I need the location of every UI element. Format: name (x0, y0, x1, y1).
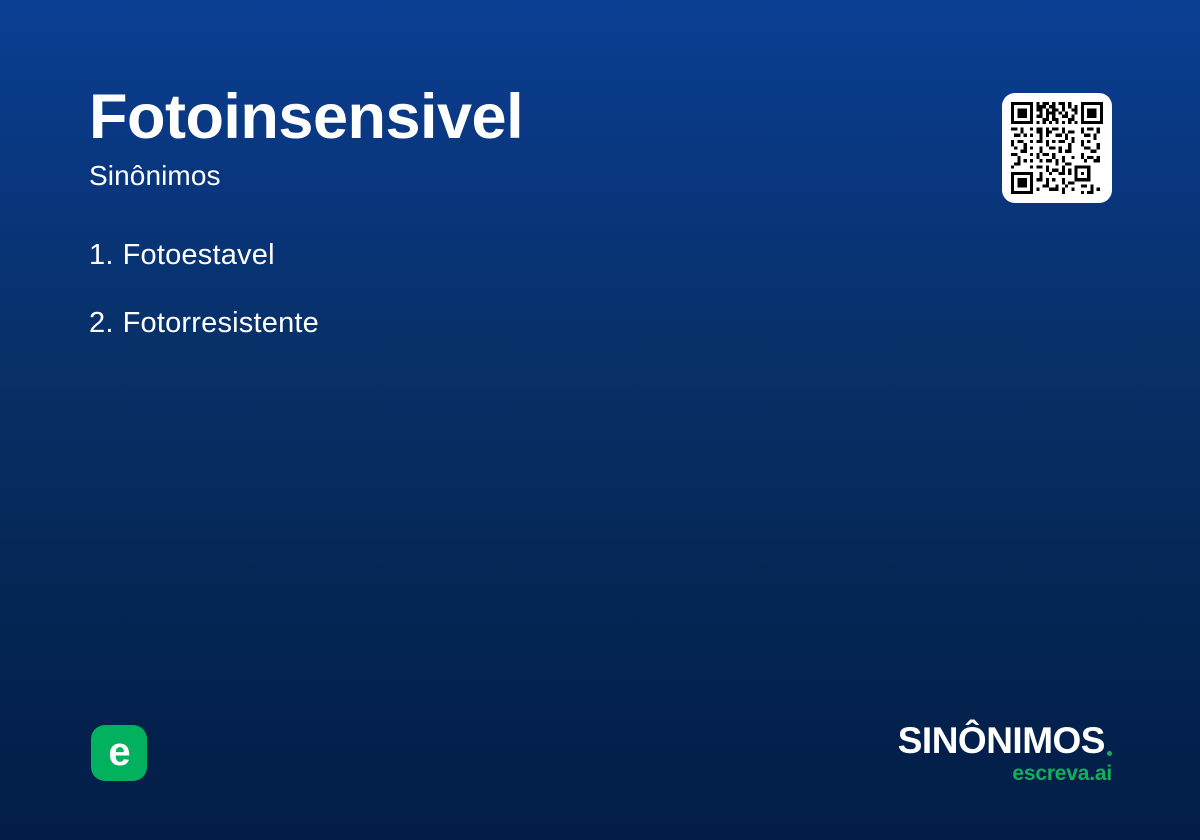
brand-logo: SINÔNIMOS escreva.ai (898, 722, 1112, 784)
list-item-label: Fotoestavel (123, 238, 275, 273)
brand-name: SINÔNIMOS (898, 722, 1105, 759)
brand-subtitle: escreva.ai (898, 763, 1112, 784)
list-item-index: 1. (89, 238, 114, 273)
list-item-label: Fotorresistente (123, 306, 319, 341)
list-item: 1. Fotoestavel (89, 238, 969, 273)
qr-code-card[interactable] (1002, 93, 1112, 203)
brand-name-row: SINÔNIMOS (898, 722, 1112, 759)
brand-dot-icon (1107, 751, 1112, 756)
app-badge-letter: e (108, 732, 129, 772)
synonym-list: 1. Fotoestavel 2. Fotorresistente (89, 238, 969, 375)
header: Fotoinsensivel Sinônimos (89, 86, 969, 192)
escreva-app-badge-icon[interactable]: e (91, 725, 147, 781)
synonym-card: Fotoinsensivel Sinônimos 1. Fotoestavel … (0, 0, 1200, 840)
list-item: 2. Fotorresistente (89, 306, 969, 341)
qr-code-icon (1011, 102, 1103, 194)
list-item-index: 2. (89, 306, 114, 341)
page-title: Fotoinsensivel (89, 86, 969, 149)
page-subtitle: Sinônimos (89, 161, 969, 192)
